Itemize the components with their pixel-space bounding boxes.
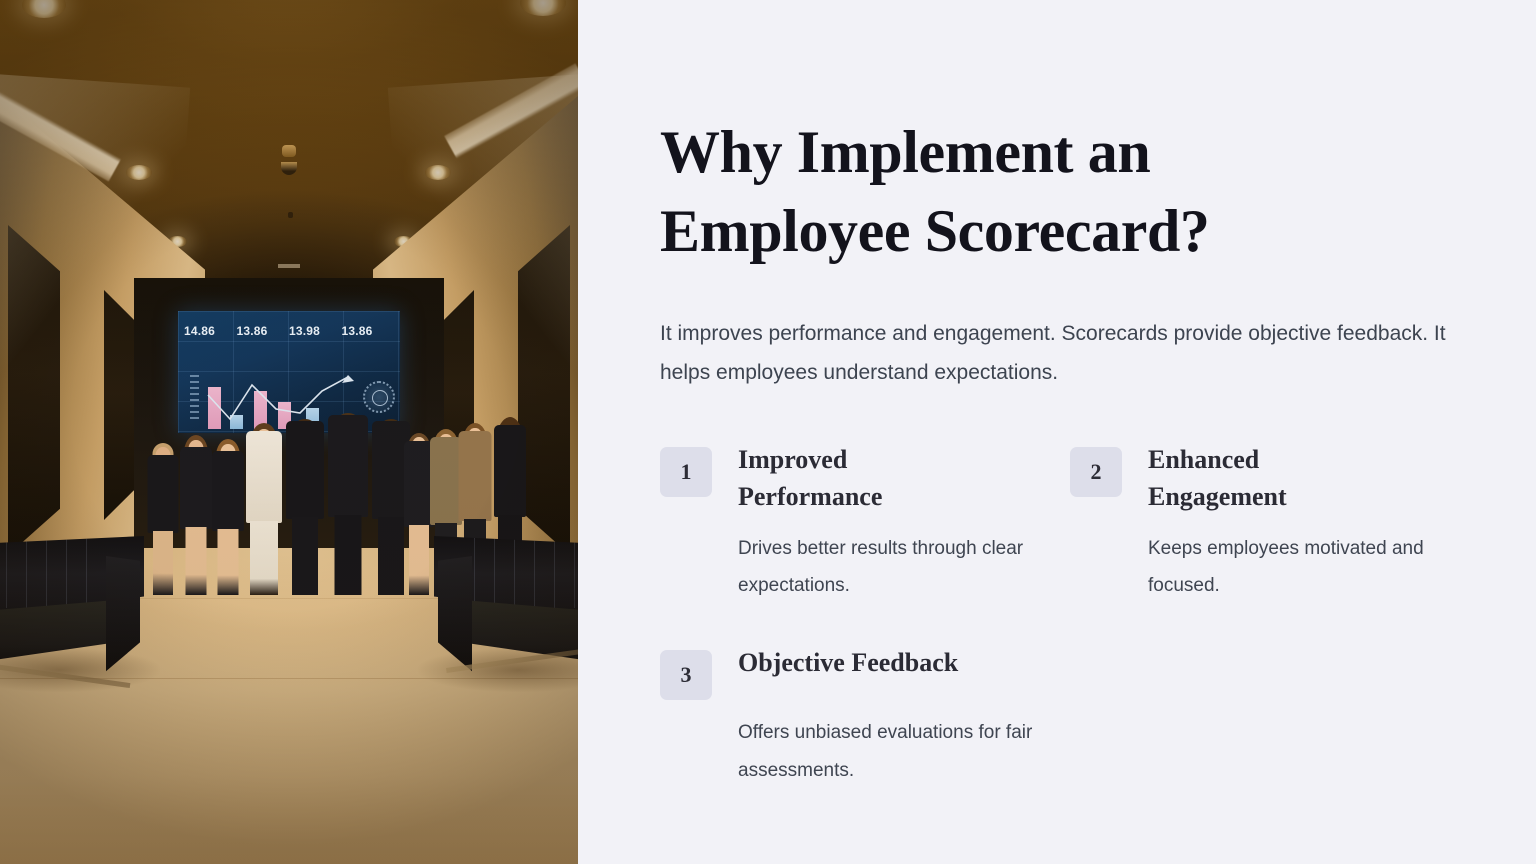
item-description: Drives better results through clear expe… xyxy=(738,530,1058,605)
lounge-sofa xyxy=(0,536,162,736)
ceiling-sensor-icon xyxy=(288,212,293,218)
kpi-row: 14.86 13.86 13.98 13.86 xyxy=(184,319,394,338)
ceiling-fixture xyxy=(282,145,296,157)
person xyxy=(284,419,326,595)
kpi-tile: 13.86 xyxy=(342,319,395,338)
kpi-value: 14.86 xyxy=(184,324,237,338)
item-title: Improved Performance xyxy=(738,442,968,516)
slide: 14.86 13.86 13.98 13.86 xyxy=(0,0,1536,864)
page-title: Why Implement an Employee Scorecard? xyxy=(660,0,1300,271)
kpi-value: 13.98 xyxy=(289,324,342,338)
kpi-tile: 14.86 xyxy=(184,319,237,338)
list-item: 2 Enhanced Engagement Keeps employees mo… xyxy=(1070,442,1480,605)
ceiling-vent xyxy=(278,264,300,268)
benefits-list: 1 Improved Performance Drives better res… xyxy=(660,442,1470,789)
kpi-tile: 13.98 xyxy=(289,319,342,338)
item-description: Offers unbiased evaluations for fair ass… xyxy=(738,714,1070,789)
lounge-sofa xyxy=(416,536,578,736)
item-description: Keeps employees motivated and focused. xyxy=(1148,530,1468,605)
list-item: 1 Improved Performance Drives better res… xyxy=(660,442,1070,605)
item-number-badge: 1 xyxy=(660,447,712,497)
kpi-value: 13.86 xyxy=(342,324,395,338)
kpi-tile: 13.86 xyxy=(237,319,290,338)
intro-paragraph: It improves performance and engagement. … xyxy=(660,271,1460,393)
list-item: 3 Objective Feedback Offers unbiased eva… xyxy=(660,645,1070,789)
item-number-badge: 3 xyxy=(660,650,712,700)
person xyxy=(178,435,214,595)
person xyxy=(244,423,284,595)
photo-scene: 14.86 13.86 13.98 13.86 xyxy=(0,0,578,864)
item-number-badge: 2 xyxy=(1070,447,1122,497)
person xyxy=(210,439,246,595)
item-title: Objective Feedback xyxy=(738,645,958,682)
content-panel: Why Implement an Employee Scorecard? It … xyxy=(578,0,1536,864)
item-title: Enhanced Engagement xyxy=(1148,442,1378,516)
kpi-value: 13.86 xyxy=(237,324,290,338)
person xyxy=(326,413,370,595)
hero-photo: 14.86 13.86 13.98 13.86 xyxy=(0,0,578,864)
